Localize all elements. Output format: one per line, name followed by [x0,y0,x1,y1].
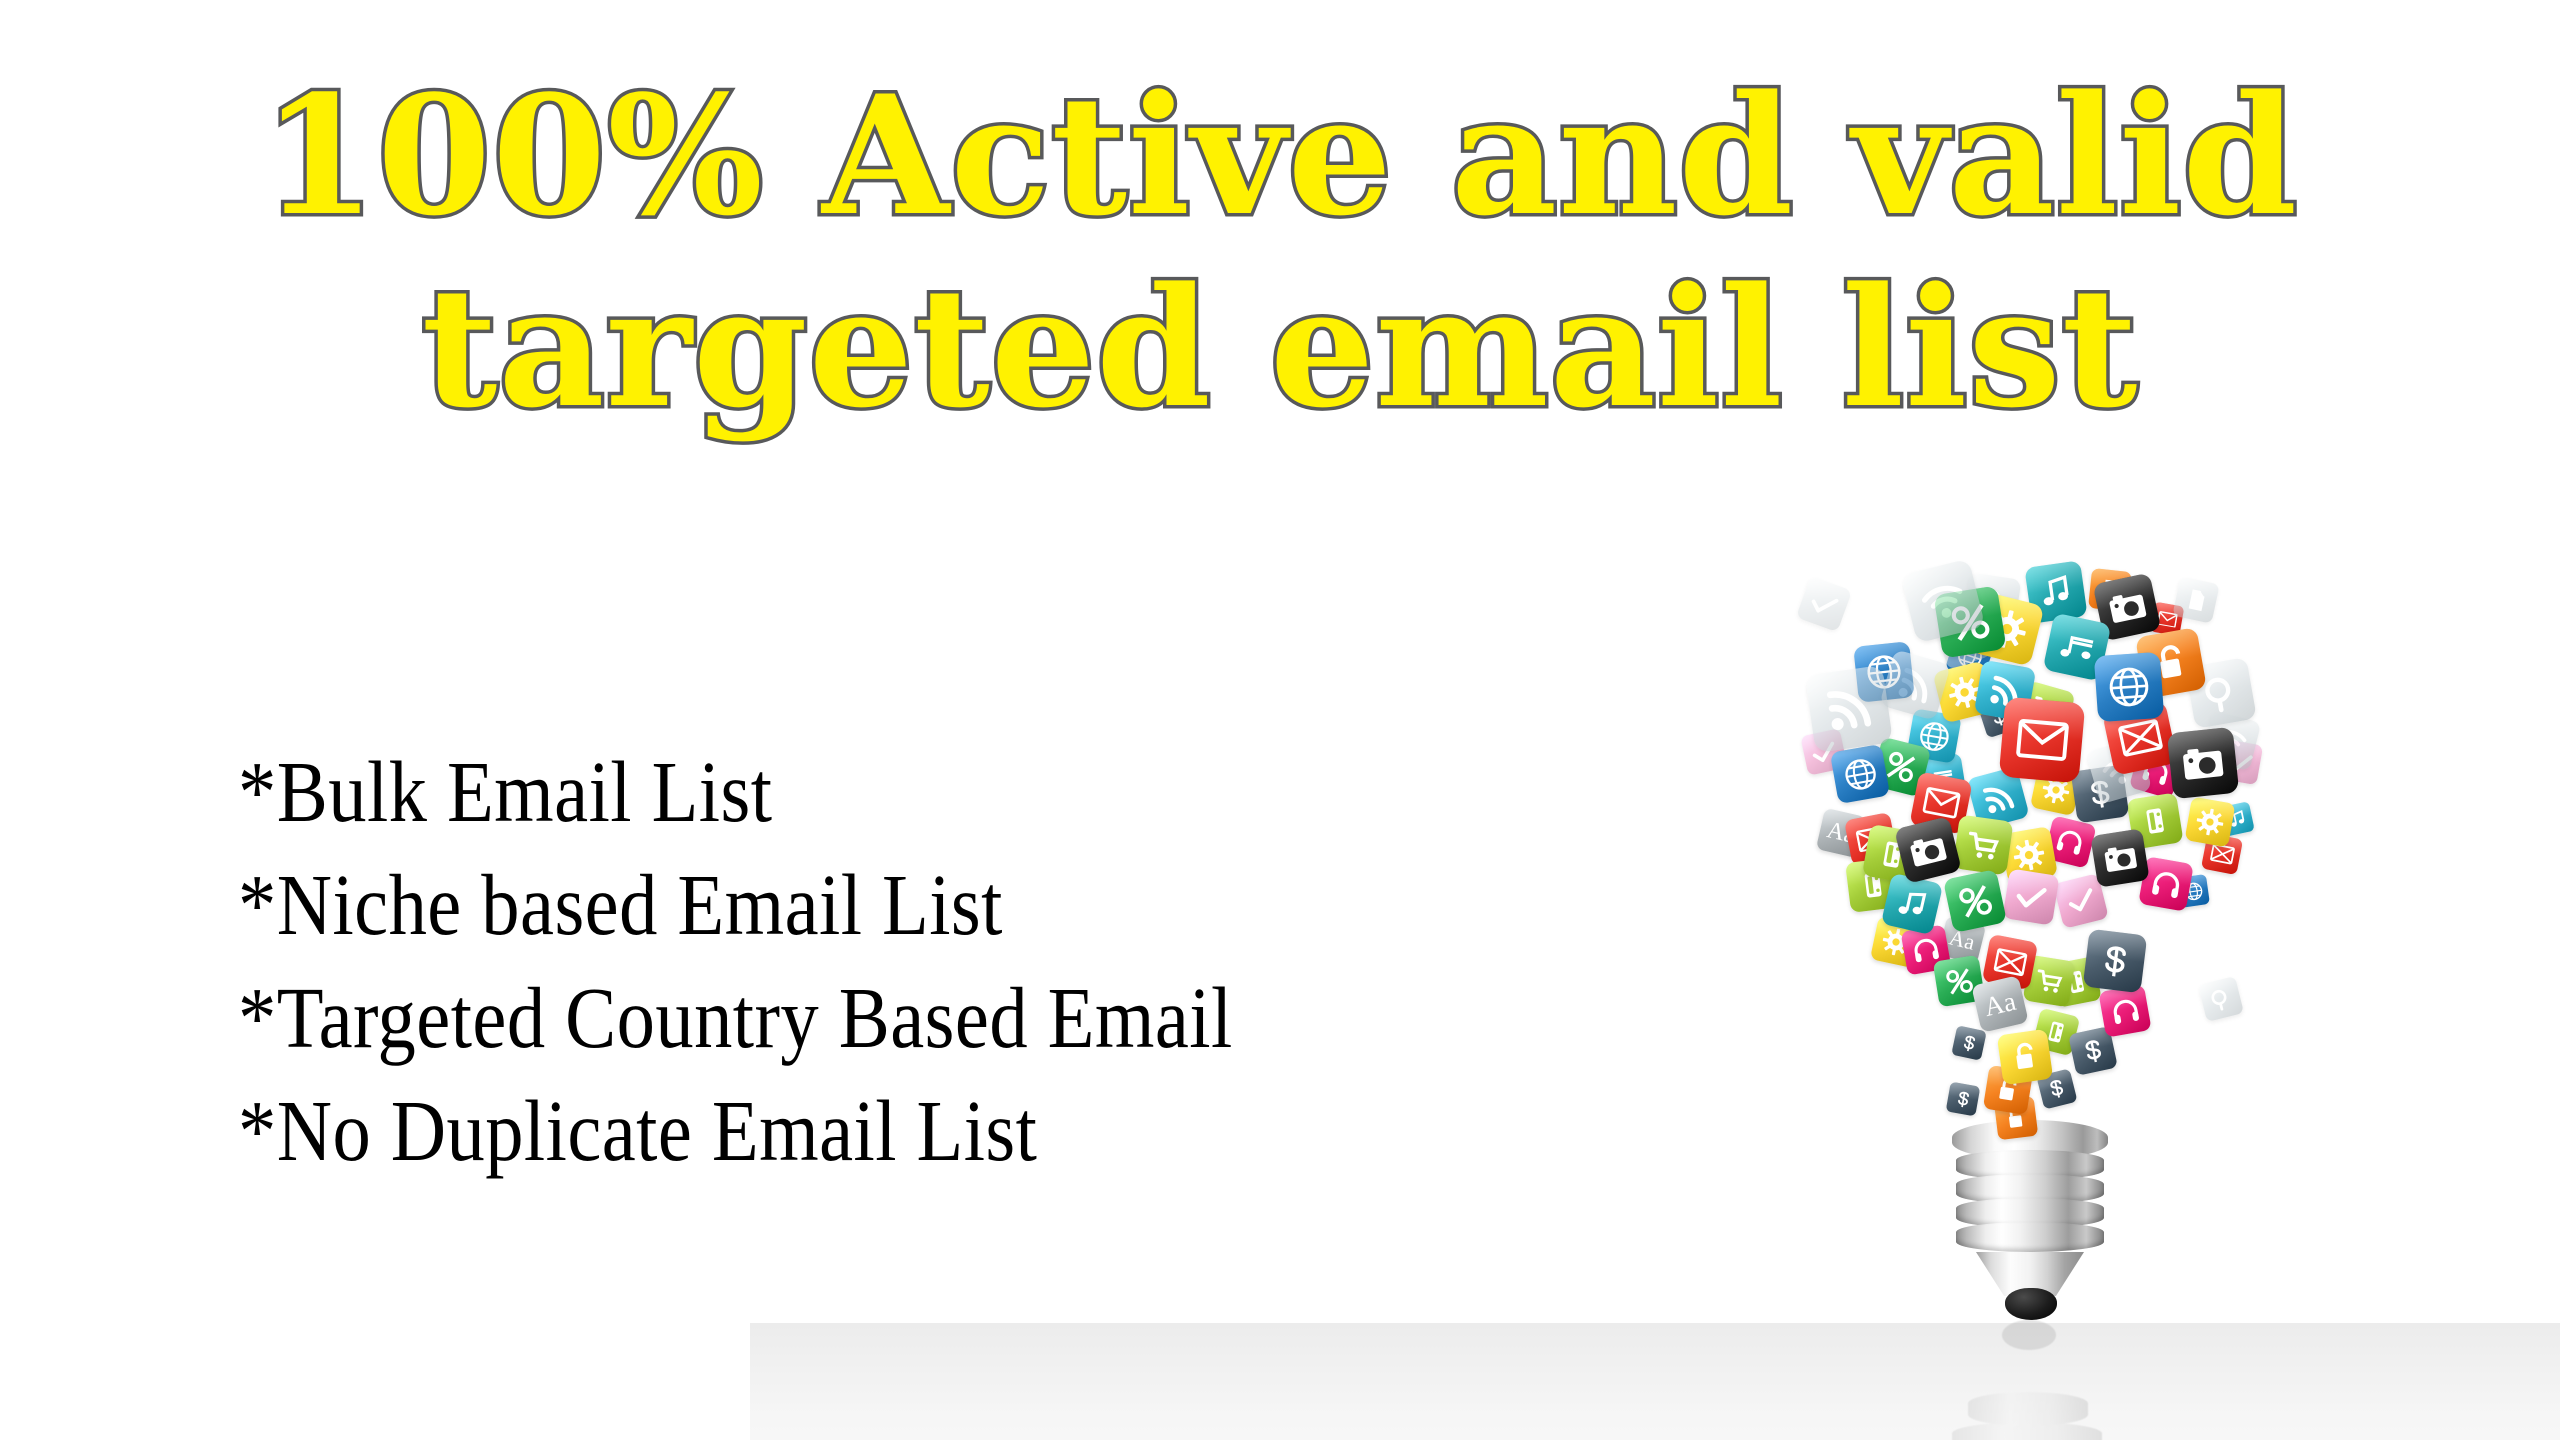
base-contact-tip [2005,1288,2057,1320]
bulb-reflection [1940,1326,2120,1440]
headline-line-2: targeted email list [0,270,2560,426]
text-aa-icon: Aa [1971,975,2029,1033]
list-item: *No Duplicate Email List [238,1074,1558,1187]
headline-line-1: 100% Active and valid [0,78,2560,234]
percent-icon [1943,869,2007,933]
check-icon [1796,576,1852,632]
camera-icon [2090,828,2149,887]
dollar-icon [1951,1025,1987,1061]
bulb-screw-base [1950,1120,2110,1310]
page-title: 100% Active and valid targeted email lis… [0,78,2560,426]
base-thread [1956,1222,2104,1252]
dollar-icon [1946,1082,1981,1117]
camera-icon [2167,727,2240,800]
poster-canvas: 100% Active and valid targeted email lis… [0,0,2560,1440]
rss-icon [1805,665,1893,753]
gear-icon [2185,797,2236,848]
globe-icon [2094,652,2164,722]
feature-list: *Bulk Email List *Niche based Email List… [238,735,1738,1187]
icon-swarm-globe: AaAaAa [1790,560,2370,1160]
document-icon [2172,576,2219,623]
check-icon [2002,868,2059,925]
list-item: *Targeted Country Based Email [238,961,1558,1074]
ground-plane [750,1323,2560,1440]
dollar-icon [2083,929,2148,994]
search-icon [2198,976,2244,1022]
globe-icon [1830,744,1890,804]
headphones-icon [2098,984,2151,1037]
list-item: *Niche based Email List [238,848,1558,961]
envelope-icon [1999,697,2086,784]
cart-icon [1953,815,2014,876]
lock-icon [1997,1029,2053,1085]
list-item: *Bulk Email List [238,735,1558,848]
lightbulb-illustration: AaAaAa [1790,560,2370,1420]
